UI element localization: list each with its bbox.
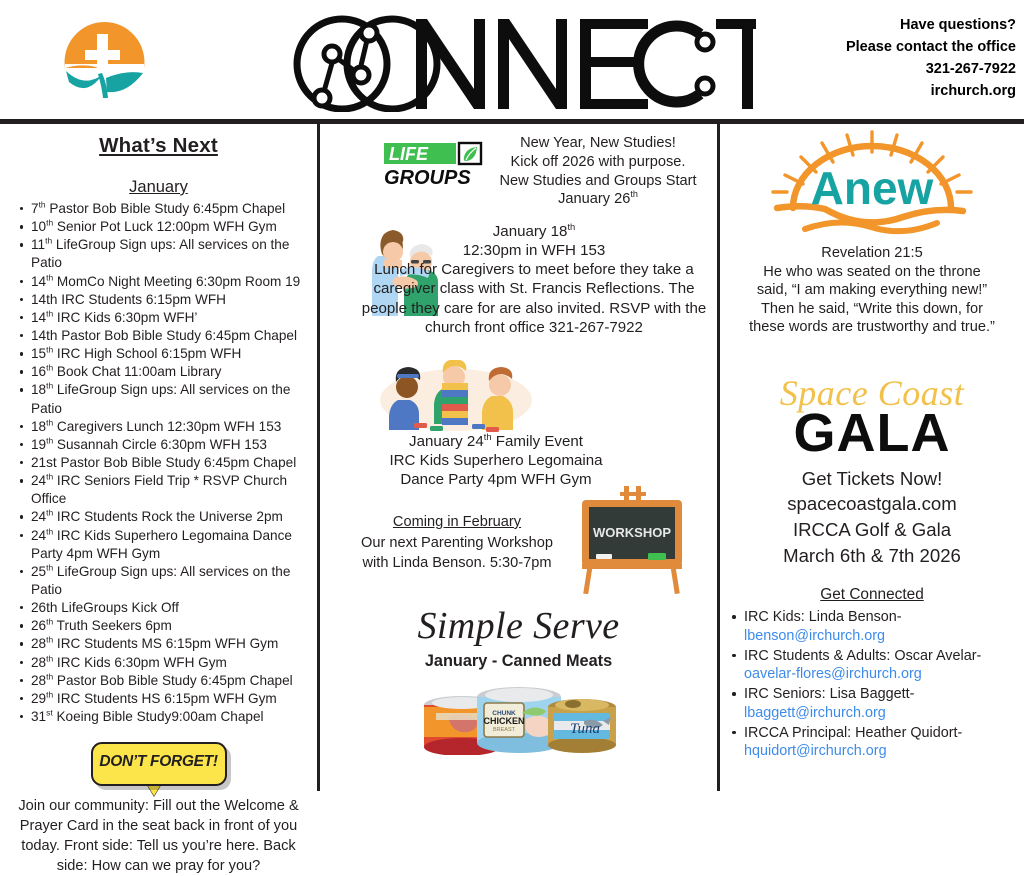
- event-item: 29th IRC Students HS 6:15pm WFH Gym: [20, 690, 309, 708]
- canned-meats-illustration: CHUNK CHICKEN BREAST Tuna: [320, 677, 717, 755]
- lifegroups-text: New Year, New Studies! Kick off 2026 wit…: [480, 134, 716, 209]
- verse-line-3: Then he said, “Write this down, for: [724, 300, 1020, 319]
- event-item: 19th Susannah Circle 6:30pm WFH 153: [20, 436, 309, 454]
- page-header: Have questions? Please contact the offic…: [0, 0, 1024, 122]
- event-item: 28th IRC Students MS 6:15pm WFH Gym: [20, 635, 309, 653]
- event-day: 28: [31, 655, 46, 670]
- event-description: Susannah Circle 6:30pm WFH 153: [53, 437, 267, 452]
- contact-label: IRCCA Principal: Heather Quidort-: [744, 725, 962, 741]
- event-description: IRC Students Rock the Universe 2pm: [53, 509, 283, 524]
- family-event-block: January 24th Family Event IRC Kids Super…: [320, 360, 717, 476]
- event-item: 11th LifeGroup Sign ups: All services on…: [20, 236, 309, 272]
- event-day: 28: [31, 636, 46, 651]
- event-day: 28: [31, 673, 46, 688]
- lifegroups-block: LIFE GROUPS New Year, New Studies! Kick …: [320, 124, 717, 220]
- family-event-ord: th: [484, 432, 492, 442]
- verse-reference: Revelation 21:5: [724, 244, 1020, 263]
- verse-line-1: He who was seated on the throne: [724, 263, 1020, 282]
- gala-dates: March 6th & 7th 2026: [720, 543, 1024, 569]
- events-list: 7th Pastor Bob Bible Study 6:45pm Chapel…: [6, 200, 311, 726]
- contact-email-link[interactable]: lbenson@irchurch.org: [744, 627, 1022, 646]
- event-description: IRC High School 6:15pm WFH: [53, 346, 241, 361]
- event-item: 14th Pastor Bob Bible Study 6:45pm Chape…: [20, 327, 309, 345]
- event-description: Pastor Bob Bible Study 6:45pm Chapel: [57, 455, 297, 470]
- family-event-date: January 24: [409, 433, 484, 450]
- event-day: 18: [31, 382, 46, 397]
- svg-text:CHICKEN: CHICKEN: [483, 716, 524, 726]
- lifegroups-line-2: Kick off 2026 with purpose.: [480, 153, 716, 172]
- event-day: 14th: [31, 328, 57, 343]
- event-item: 24th IRC Students Rock the Universe 2pm: [20, 508, 309, 526]
- lifegroups-date-ord: th: [630, 190, 638, 200]
- caregivers-date-ord: th: [567, 222, 575, 232]
- contact-email-link[interactable]: oavelar-flores@irchurch.org: [744, 665, 1022, 684]
- contact-website: irchurch.org: [796, 80, 1016, 102]
- contact-line-2: Please contact the office: [796, 36, 1016, 58]
- event-item: 7th Pastor Bob Bible Study 6:45pm Chapel: [20, 200, 309, 218]
- lifegroups-start-date: January 26th: [480, 190, 716, 209]
- kids-building-blocks-illustration: [368, 360, 544, 432]
- event-item: 14th IRC Kids 6:30pm WFH’: [20, 309, 309, 327]
- event-day: 24: [31, 528, 46, 543]
- contact-label: IRC Kids: Linda Benson-: [744, 609, 902, 625]
- svg-text:GROUPS: GROUPS: [384, 167, 471, 189]
- lifegroups-line-1: New Year, New Studies!: [480, 134, 716, 153]
- event-description: MomCo Night Meeting 6:30pm Room 19: [53, 274, 300, 289]
- event-day: 11: [31, 237, 45, 252]
- event-description: Pastor Bob Bible Study 6:45pm Chapel: [46, 201, 286, 216]
- column-middle: LIFE GROUPS New Year, New Studies! Kick …: [320, 124, 717, 791]
- office-contact-block: Have questions? Please contact the offic…: [796, 14, 1016, 102]
- event-description: IRC Kids 6:30pm WFH Gym: [53, 655, 227, 670]
- caregivers-block: January 18th 12:30pm in WFH 153 Lunch fo…: [320, 220, 717, 352]
- get-connected-heading: Get Connected: [720, 586, 1024, 604]
- event-description: LifeGroups Kick Off: [57, 600, 178, 615]
- column-right: Anew Revelation 21:5 He who was seated o…: [720, 124, 1024, 791]
- event-description: Caregivers Lunch 12:30pm WFH 153: [53, 419, 281, 434]
- space-coast-gala-block: Space Coast GALA Get Tickets Now! spacec…: [720, 375, 1024, 569]
- event-description: IRC Seniors Field Trip * RSVP Church Off…: [31, 473, 287, 506]
- event-day: 16: [31, 364, 46, 379]
- connect-wordmark: [276, 12, 756, 112]
- event-day: 14: [31, 274, 46, 289]
- whats-next-title: What’s Next: [6, 134, 311, 158]
- event-day: 14th: [31, 292, 57, 307]
- event-day-ordinal: th: [39, 199, 46, 209]
- contact-label: IRC Students & Adults: Oscar Avelar-: [744, 648, 981, 664]
- event-item: 16th Book Chat 11:00am Library: [20, 363, 309, 381]
- event-day: 19: [31, 437, 46, 452]
- contact-email-link[interactable]: lbaggett@irchurch.org: [744, 704, 1022, 723]
- dont-forget-bubble: DON’T FORGET!: [6, 742, 311, 794]
- newsletter-page: Have questions? Please contact the offic…: [0, 0, 1024, 791]
- event-day: 24: [31, 509, 46, 524]
- family-event-text: January 24th Family Event IRC Kids Super…: [326, 432, 666, 489]
- gala-website[interactable]: spacecoastgala.com: [720, 491, 1024, 517]
- gala-cta: Get Tickets Now!: [720, 466, 1024, 492]
- event-description: LifeGroup Sign ups: All services on the …: [31, 382, 290, 415]
- event-item: 10th Senior Pot Luck 12:00pm WFH Gym: [20, 218, 309, 236]
- event-description: IRC Kids 6:30pm WFH’: [53, 310, 197, 325]
- caregivers-date-text: January 18: [493, 223, 568, 240]
- event-item: 24th IRC Seniors Field Trip * RSVP Churc…: [20, 472, 309, 508]
- anew-word-text: Anew: [811, 162, 934, 214]
- contact-email-link[interactable]: hquidort@irchurch.org: [744, 742, 1022, 761]
- event-day: 24: [31, 473, 46, 488]
- family-event-label: Family Event: [492, 433, 583, 450]
- event-day: 18: [31, 419, 46, 434]
- february-line-1: Our next Parenting Workshop: [338, 533, 576, 554]
- church-sun-cross-logo: [57, 18, 152, 106]
- lifegroups-line-3: New Studies and Groups Start: [480, 172, 716, 191]
- caregivers-date: January 18th: [350, 222, 718, 241]
- dont-forget-badge: DON’T FORGET!: [91, 742, 227, 786]
- verse-line-4: these words are trustworthy and true.”: [724, 318, 1020, 337]
- workshop-easel-illustration: WORKSHOP: [572, 486, 690, 594]
- column-whats-next: What’s Next January 7th Pastor Bob Bible…: [0, 124, 317, 791]
- event-day: 26: [31, 618, 46, 633]
- life-groups-logo: LIFE GROUPS: [382, 141, 490, 189]
- gala-event-name: IRCCA Golf & Gala: [720, 517, 1024, 543]
- february-text: Coming in February Our next Parenting Wo…: [338, 512, 576, 574]
- event-item: 14th IRC Students 6:15pm WFH: [20, 291, 309, 309]
- workshop-board-label: WORKSHOP: [593, 525, 671, 540]
- lifegroups-date-text: January 26: [558, 191, 630, 207]
- event-item: 28th Pastor Bob Bible Study 6:45pm Chape…: [20, 672, 309, 690]
- event-item: 15th IRC High School 6:15pm WFH: [20, 345, 309, 363]
- event-item: 14th MomCo Night Meeting 6:30pm Room 19: [20, 273, 309, 291]
- gala-details: Get Tickets Now! spacecoastgala.com IRCC…: [720, 466, 1024, 569]
- event-day: 26th: [31, 600, 57, 615]
- event-item: 24th IRC Kids Superhero Legomaina Dance …: [20, 527, 309, 563]
- contact-phone: 321-267-7922: [796, 58, 1016, 80]
- contact-item: IRC Seniors: Lisa Baggett-lbaggett@irchu…: [732, 685, 1022, 722]
- event-description: LifeGroup Sign ups: All services on the …: [31, 564, 290, 597]
- content-columns: What’s Next January 7th Pastor Bob Bible…: [0, 124, 1024, 791]
- event-day: 29: [31, 691, 46, 706]
- event-day: 10: [31, 219, 46, 234]
- event-day: 15: [31, 346, 46, 361]
- simple-serve-subtitle: January - Canned Meats: [320, 652, 717, 671]
- contact-item: IRC Students & Adults: Oscar Avelar-oave…: [732, 647, 1022, 684]
- event-description: IRC Kids Superhero Legomaina Dance Party…: [31, 528, 292, 561]
- family-event-line-1: January 24th Family Event: [326, 432, 666, 451]
- gala-word-title: GALA: [720, 407, 1024, 460]
- caregivers-time-place: 12:30pm in WFH 153: [350, 241, 718, 260]
- dont-forget-label: DON’T FORGET!: [93, 744, 225, 780]
- simple-serve-title: Simple Serve: [320, 604, 717, 648]
- event-description: Koeing Bible Study9:00am Chapel: [53, 709, 264, 724]
- get-connected-list: IRC Kids: Linda Benson-lbenson@irchurch.…: [720, 608, 1024, 761]
- event-description: Pastor Bob Bible Study 6:45pm Chapel: [57, 328, 297, 343]
- contact-item: IRC Kids: Linda Benson-lbenson@irchurch.…: [732, 608, 1022, 645]
- event-day: 21st: [31, 455, 57, 470]
- event-description: IRC Students HS 6:15pm WFH Gym: [53, 691, 277, 706]
- event-day: 14: [31, 310, 46, 325]
- event-day: 31: [31, 709, 46, 724]
- february-workshop-block: Coming in February Our next Parenting Wo…: [320, 486, 717, 598]
- event-description: Pastor Bob Bible Study 6:45pm Chapel: [53, 673, 293, 688]
- svg-text:LIFE: LIFE: [389, 144, 429, 164]
- event-day: 7: [31, 201, 39, 216]
- event-description: IRC Students MS 6:15pm WFH Gym: [53, 636, 278, 651]
- anew-verse: Revelation 21:5 He who was seated on the…: [720, 244, 1024, 337]
- month-heading: January: [6, 178, 311, 197]
- event-item: 28th IRC Kids 6:30pm WFH Gym: [20, 654, 309, 672]
- event-description: LifeGroup Sign ups: All services on the …: [31, 237, 289, 270]
- event-description: Book Chat 11:00am Library: [53, 364, 221, 379]
- contact-item: IRCCA Principal: Heather Quidort-hquidor…: [732, 724, 1022, 761]
- caregivers-body: Lunch for Caregivers to meet before they…: [350, 260, 718, 337]
- caregivers-text: January 18th 12:30pm in WFH 153 Lunch fo…: [350, 222, 718, 337]
- dont-forget-body: Join our community: Fill out the Welcome…: [6, 797, 311, 876]
- svg-text:BREAST: BREAST: [492, 727, 515, 733]
- svg-text:Tuna: Tuna: [570, 721, 600, 737]
- event-item: 18th LifeGroup Sign ups: All services on…: [20, 381, 309, 417]
- event-day: 25: [31, 564, 46, 579]
- contact-label: IRC Seniors: Lisa Baggett-: [744, 686, 914, 702]
- event-item: 25th LifeGroup Sign ups: All services on…: [20, 563, 309, 599]
- anew-logo: Anew: [720, 130, 1024, 242]
- event-description: Senior Pot Luck 12:00pm WFH Gym: [53, 219, 277, 234]
- event-description: Truth Seekers 6pm: [53, 618, 172, 633]
- event-item: 26th LifeGroups Kick Off: [20, 599, 309, 617]
- event-item: 21st Pastor Bob Bible Study 6:45pm Chape…: [20, 454, 309, 472]
- february-heading: Coming in February: [338, 512, 576, 533]
- event-item: 26th Truth Seekers 6pm: [20, 617, 309, 635]
- family-event-line-2: IRC Kids Superhero Legomaina: [326, 451, 666, 470]
- contact-line-1: Have questions?: [796, 14, 1016, 36]
- event-item: 31st Koeing Bible Study9:00am Chapel: [20, 708, 309, 726]
- event-description: IRC Students 6:15pm WFH: [57, 292, 225, 307]
- verse-line-2: said, “I am making everything new!”: [724, 281, 1020, 300]
- february-line-2: with Linda Benson. 5:30-7pm: [338, 553, 576, 574]
- event-item: 18th Caregivers Lunch 12:30pm WFH 153: [20, 418, 309, 436]
